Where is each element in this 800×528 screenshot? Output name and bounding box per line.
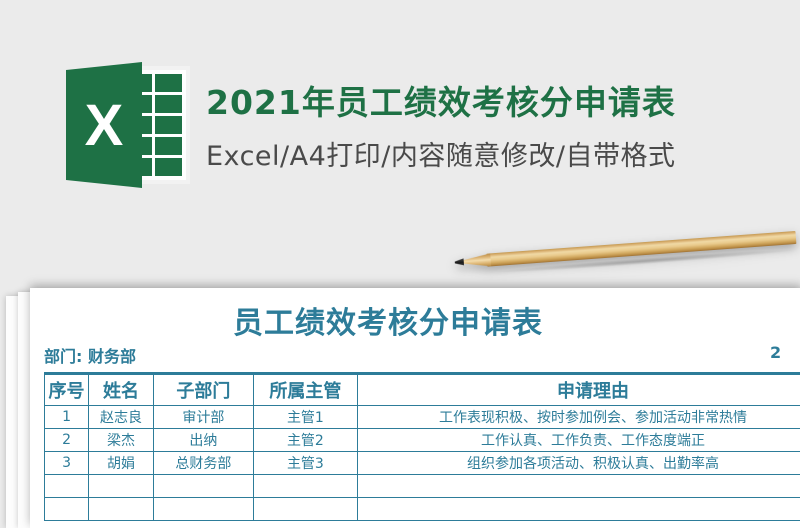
table-row[interactable]: 2 梁杰 出纳 主管2 工作认真、工作负责、工作态度端正 [45,429,800,452]
table-header-row: 序号 姓名 子部门 所属主管 申请理由 申请 [45,374,800,406]
cell-index[interactable]: 1 [45,406,89,429]
cell-name[interactable] [89,498,154,521]
col-header-supervisor[interactable]: 所属主管 [253,374,357,406]
cell-reason[interactable] [358,475,800,498]
excel-logo: X [66,62,190,188]
cell-reason[interactable]: 工作认真、工作负责、工作态度端正 [358,429,800,452]
cell-name[interactable]: 赵志良 [89,406,154,429]
department-label: 部门: 财务部 [44,343,136,367]
cell-supervisor[interactable] [253,475,357,498]
banner-title: 2021年员工绩效考核分申请表 [206,76,676,124]
excel-logo-cell [155,116,183,134]
performance-table: 序号 姓名 子部门 所属主管 申请理由 申请 1 赵志良 审计部 主管1 工作表… [44,372,800,521]
excel-logo-letter: X [66,62,142,188]
cell-name[interactable] [89,475,154,498]
cell-reason[interactable]: 工作表现积极、按时参加例会、参加活动非常热情 [358,406,800,429]
cell-subdept[interactable]: 审计部 [154,406,254,429]
cell-name[interactable]: 胡娟 [89,452,154,475]
cell-reason[interactable] [358,498,800,521]
excel-logo-cell [155,137,183,155]
banner-subtitle: Excel/A4打印/内容随意修改/自带格式 [206,134,675,173]
header-banner: X 2021年员工绩效考核分申请表 Excel/A4打印/内容随意修改/自带格式 [0,0,800,230]
document-meta-row: 部门: 财务部 2 [44,343,800,367]
cell-index[interactable] [45,498,89,521]
col-header-index[interactable]: 序号 [45,374,89,406]
cell-supervisor[interactable]: 主管3 [253,452,357,475]
cell-index[interactable]: 3 [45,452,89,475]
pencil-icon [454,227,795,278]
date-label: 2 [770,343,781,362]
cell-name[interactable]: 梁杰 [89,429,154,452]
document-sheet: 员工绩效考核分申请表 部门: 财务部 2 序号 姓名 子部门 所属主管 申请理由… [30,288,800,528]
cell-reason[interactable]: 组织参加各项活动、积极认真、出勤率高 [358,452,800,475]
table-row[interactable] [45,498,800,521]
cell-subdept[interactable] [154,498,254,521]
col-header-reason[interactable]: 申请理由 [358,374,800,406]
cell-subdept[interactable]: 出纳 [154,429,254,452]
table-row[interactable]: 1 赵志良 审计部 主管1 工作表现积极、按时参加例会、参加活动非常热情 [45,406,800,429]
cell-subdept[interactable]: 总财务部 [154,452,254,475]
cell-supervisor[interactable]: 主管1 [253,406,357,429]
col-header-subdept[interactable]: 子部门 [154,374,254,406]
cell-supervisor[interactable] [253,498,357,521]
cell-index[interactable] [45,475,89,498]
pencil-graphite-tip [455,258,464,266]
table-row[interactable]: 3 胡娟 总财务部 主管3 组织参加各项活动、积极认真、出勤率高 [45,452,800,475]
cell-supervisor[interactable]: 主管2 [253,429,357,452]
cell-subdept[interactable] [154,475,254,498]
col-header-name[interactable]: 姓名 [89,374,154,406]
excel-logo-cell [155,74,183,92]
excel-logo-cell [155,158,183,176]
document-title: 员工绩效考核分申请表 [30,298,746,342]
excel-logo-cell [155,95,183,113]
cell-index[interactable]: 2 [45,429,89,452]
table-row[interactable] [45,475,800,498]
